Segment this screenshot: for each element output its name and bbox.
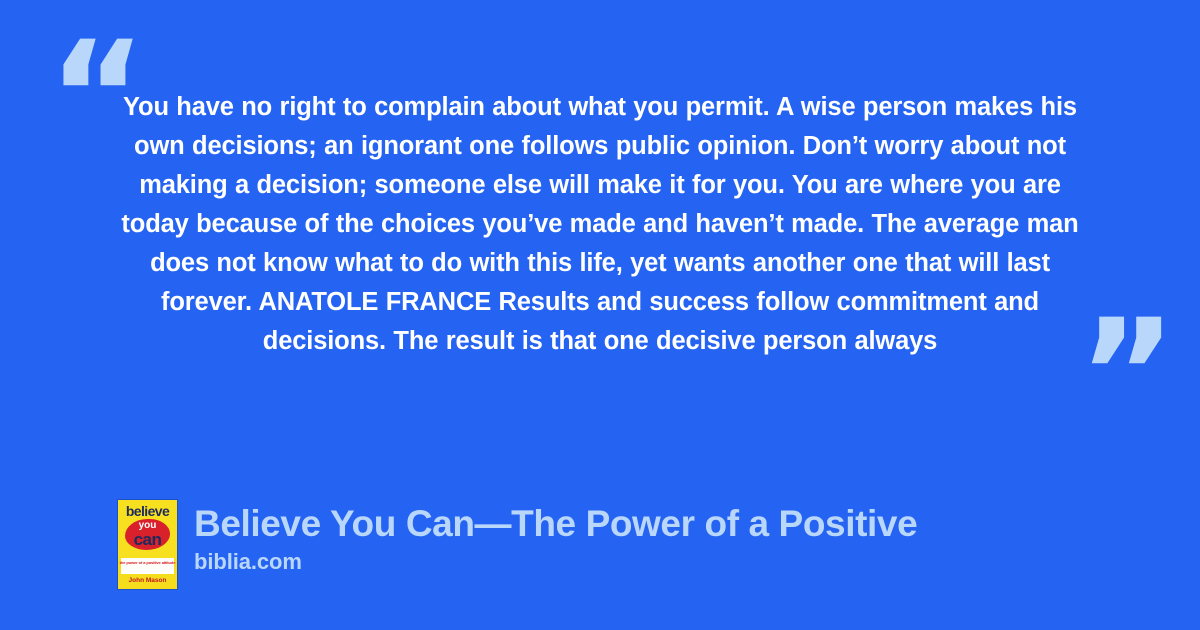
attribution-text-group: Believe You Can—The Power of a Positive … [194, 500, 917, 574]
quote-card: “ You have no right to complain about wh… [0, 0, 1200, 630]
close-quotation-mark-icon: ” [1078, 300, 1177, 450]
book-title: Believe You Can—The Power of a Positive [194, 502, 917, 545]
book-cover-word-can: can [118, 531, 177, 548]
book-cover-author: John Mason [118, 577, 177, 585]
attribution-footer: believe you can the power of a positive … [118, 500, 917, 589]
quote-text: You have no right to complain about what… [112, 88, 1088, 361]
quote-block: You have no right to complain about what… [112, 88, 1088, 361]
book-cover-word-believe: believe [118, 504, 177, 518]
book-cover-subtitle: the power of a positive attitude [118, 560, 177, 566]
book-cover-thumbnail: believe you can the power of a positive … [118, 500, 177, 589]
site-name: biblia.com [194, 549, 917, 574]
